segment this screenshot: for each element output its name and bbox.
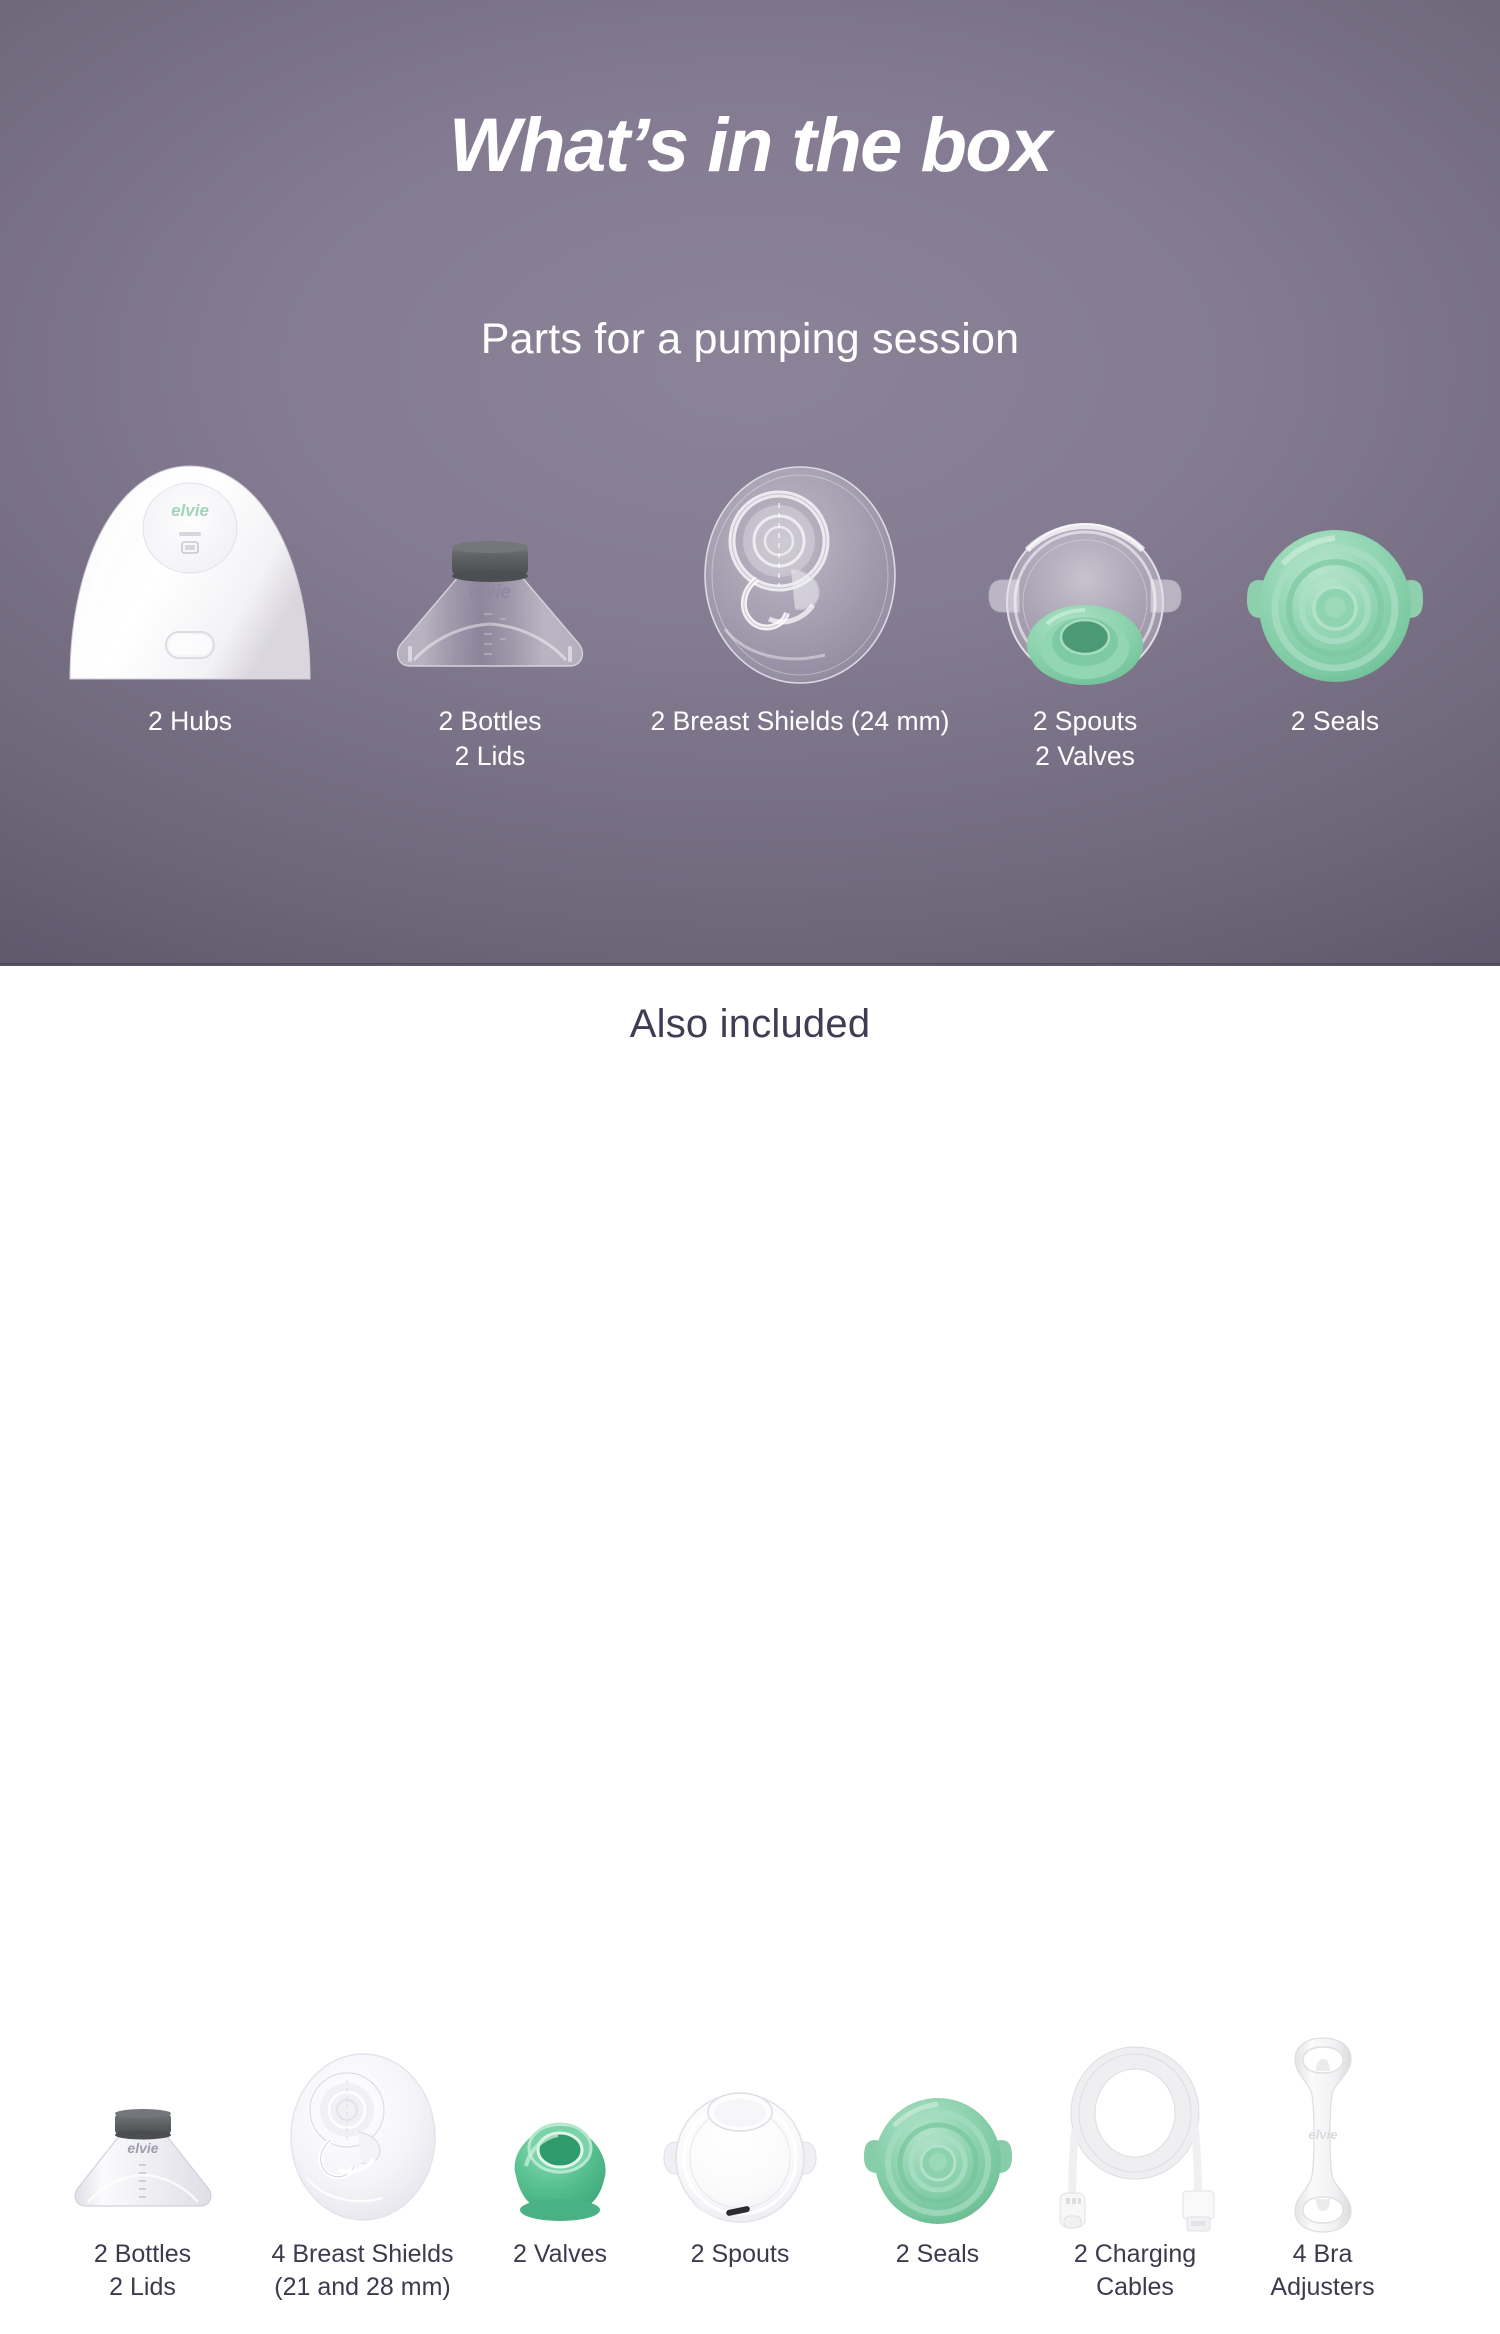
svg-text:elvie: elvie xyxy=(127,2140,158,2156)
item-seals: 2 Seals xyxy=(840,2044,1035,2271)
item-label: 2 Seals xyxy=(896,2238,979,2271)
item-breast-shield: 2 Breast Shields (24 mm) xyxy=(640,455,960,739)
item-bottle-small: elvie 2 Bottles 2 Lids xyxy=(40,2044,245,2304)
item-label: 2 Charging Cables xyxy=(1074,2238,1196,2304)
item-label: 2 Seals xyxy=(1291,704,1379,739)
hero-subtitle: Parts for a pumping session xyxy=(0,315,1500,364)
item-label: 2 Hubs xyxy=(148,704,232,739)
valve-icon xyxy=(500,2044,620,2226)
item-label: 2 Bottles 2 Lids xyxy=(438,704,541,774)
pumping-session-item-row: elvie 2 Hubs xyxy=(40,455,1460,855)
item-seal: 2 Seals xyxy=(1210,455,1460,739)
seal-icon xyxy=(1245,455,1425,690)
also-included-section: Also included xyxy=(0,966,1500,1368)
item-bottle: elvie 2 Bottles 2 Lids xyxy=(340,455,640,774)
item-label: 2 Bottles 2 Lids xyxy=(94,2238,191,2304)
item-hub: elvie 2 Hubs xyxy=(40,455,340,739)
item-label: 2 Spouts xyxy=(691,2238,790,2271)
item-label: 2 Valves xyxy=(513,2238,607,2271)
item-label: 4 Bra Adjusters xyxy=(1270,2238,1374,2304)
spout-valve-icon xyxy=(985,455,1185,690)
breast-shield-icon xyxy=(283,2044,443,2226)
also-included-title: Also included xyxy=(0,1002,1500,1047)
breast-shield-icon xyxy=(695,455,905,690)
spout-icon xyxy=(664,2044,816,2226)
item-spouts: 2 Spouts xyxy=(640,2044,840,2271)
item-label: 2 Breast Shields (24 mm) xyxy=(651,704,950,739)
whats-in-the-box-hero: What’s in the box Parts for a pumping se… xyxy=(0,0,1500,966)
bra-adjuster-icon: elvie xyxy=(1285,2044,1361,2226)
bottle-icon: elvie xyxy=(374,455,606,690)
item-bra-adjusters: elvie 4 Bra Adjusters xyxy=(1235,2044,1410,2304)
bottle-icon: elvie xyxy=(60,2044,226,2226)
item-charging-cables: 2 Charging Cables xyxy=(1035,2044,1235,2304)
hub-icon: elvie xyxy=(66,455,314,690)
item-label: 2 Spouts 2 Valves xyxy=(1033,704,1138,774)
item-spout-valve: 2 Spouts 2 Valves xyxy=(960,455,1210,774)
item-valves: 2 Valves xyxy=(480,2044,640,2271)
item-label: 4 Breast Shields (21 and 28 mm) xyxy=(271,2238,453,2304)
also-included-item-row: elvie 2 Bottles 2 Lids xyxy=(40,2044,1460,2334)
item-breast-shields-small: 4 Breast Shields (21 and 28 mm) xyxy=(245,2044,480,2304)
page-title: What’s in the box xyxy=(0,108,1500,184)
seal-icon xyxy=(863,2044,1013,2226)
svg-text:elvie: elvie xyxy=(469,582,512,603)
svg-text:elvie: elvie xyxy=(171,501,209,520)
charging-cable-icon xyxy=(1050,2044,1220,2226)
svg-text:elvie: elvie xyxy=(1308,2127,1337,2142)
